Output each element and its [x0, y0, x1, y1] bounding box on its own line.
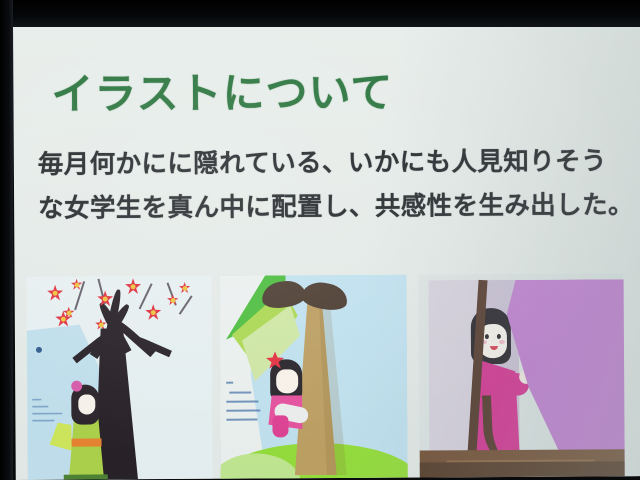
illustration-curtain: [419, 273, 625, 477]
caption-text-block: [226, 379, 274, 423]
screen-left-border: [0, 0, 13, 480]
girl-eye-left: [485, 334, 489, 339]
slide-title: イラストについて: [51, 59, 393, 122]
presentation-slide: イラストについて 毎月何かにに隠れている、いかにも人見知りそう な女学生を真ん中…: [13, 21, 640, 480]
illustration-palm-tree: [220, 275, 408, 479]
projected-slide-photo: イラストについて 毎月何かにに隠れている、いかにも人見知りそう な女学生を真ん中…: [0, 0, 640, 480]
girl-cheek-right: [499, 340, 505, 344]
girl-hand: [272, 415, 288, 437]
hair-flower: [71, 381, 82, 392]
slide-body-line-2: な女学生を真ん中に配置し、共感性を生み出した。: [38, 184, 634, 225]
girl-face: [78, 395, 95, 415]
illustration-plum-tree: [27, 276, 213, 480]
decorative-dot: [36, 347, 42, 353]
girl-eye-right: [497, 334, 501, 339]
ground-base: [64, 474, 108, 479]
girl-face: [276, 369, 298, 393]
kimono-obi: [72, 438, 102, 446]
caption-text-block: [32, 397, 76, 425]
screen-top-border: [0, 0, 640, 27]
podium-shadow: [420, 461, 625, 477]
slide-body-line-1: 毎月何かにに隠れている、いかにも人見知りそう: [38, 140, 607, 180]
